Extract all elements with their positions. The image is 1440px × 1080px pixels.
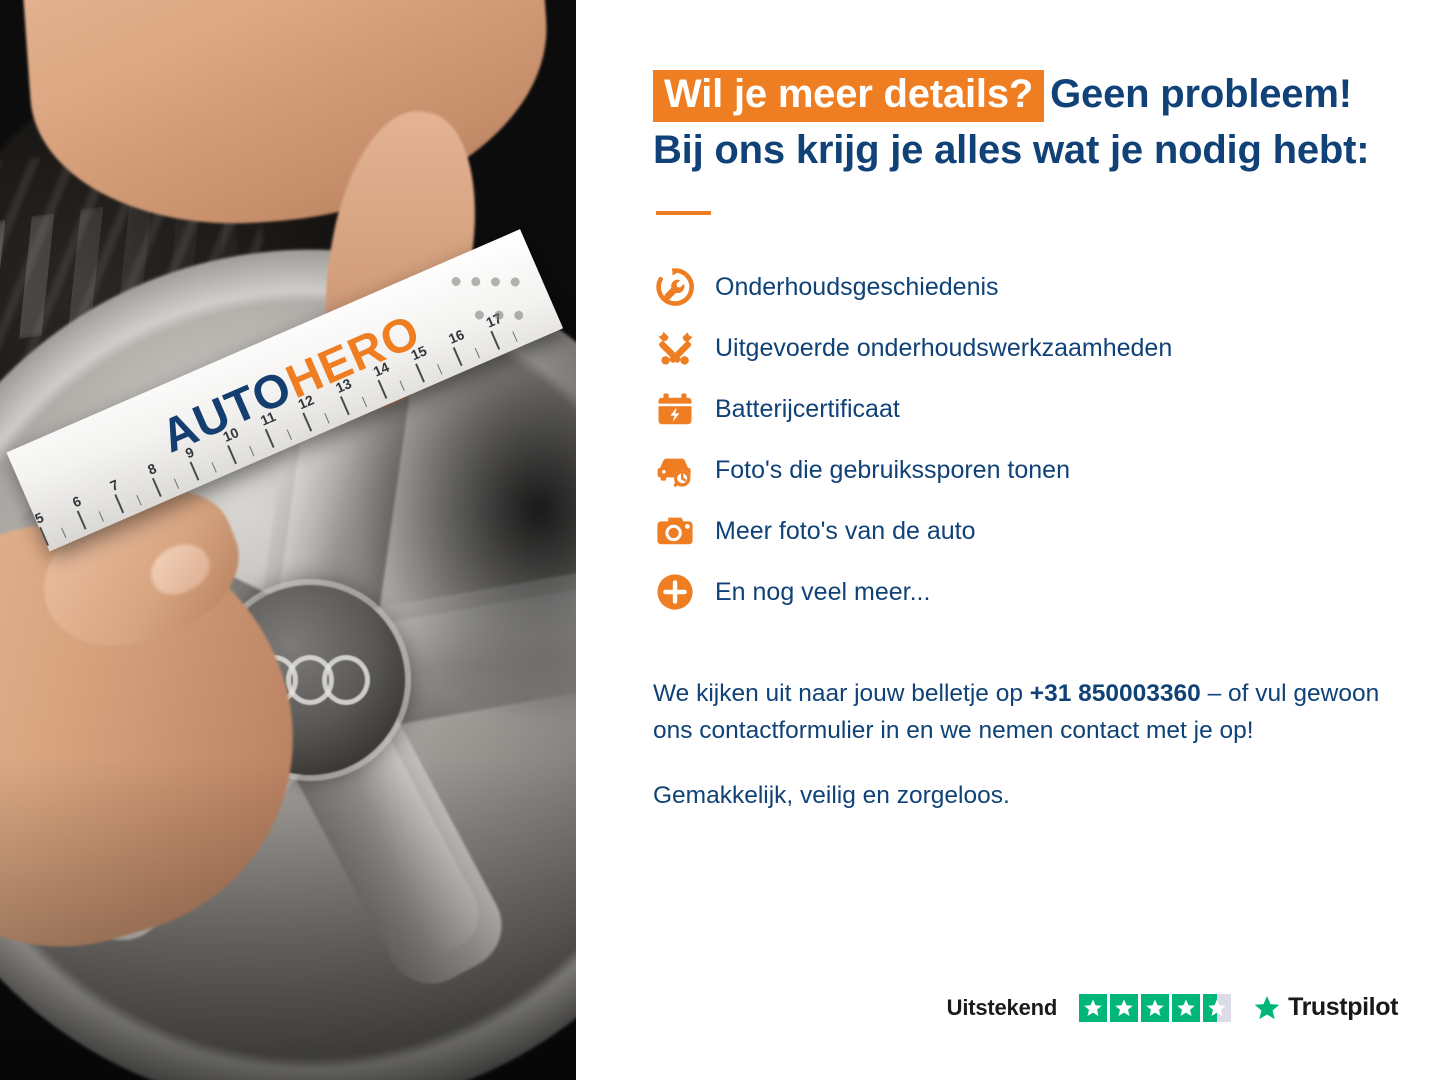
battery-icon (653, 387, 697, 431)
phone-number: +31 850003360 (1030, 680, 1201, 707)
maintenance-history-icon (653, 265, 697, 309)
star-filled (1172, 994, 1200, 1022)
star-filled (1079, 994, 1107, 1022)
trustpilot-rating[interactable]: Uitstekend (947, 993, 1398, 1022)
star-filled (1110, 994, 1138, 1022)
orange-divider (656, 211, 711, 215)
contact-text-before: We kijken uit naar jouw belletje op (653, 680, 1030, 707)
tools-icon (653, 326, 697, 370)
list-item: Batterijcertificaat (653, 379, 1398, 440)
contact-copy: We kijken uit naar jouw belletje op +31 … (653, 675, 1393, 815)
trustpilot-star-icon (1253, 994, 1281, 1022)
headline-rest: Geen probleem! (1050, 72, 1352, 116)
feature-label: Uitgevoerde onderhoudswerkzaamheden (715, 333, 1172, 363)
contact-paragraph: We kijken uit naar jouw belletje op +31 … (653, 675, 1393, 749)
photo-bottom-shadow (0, 760, 576, 1080)
list-item: Uitgevoerde onderhoudswerkzaamheden (653, 318, 1398, 379)
trustpilot-rating-word: Uitstekend (947, 995, 1057, 1021)
plus-icon (653, 570, 697, 614)
photo-stage: 5 6 7 8 9 10 11 12 13 14 15 16 17 AUTOHE… (0, 0, 576, 1080)
feature-label: Onderhoudsgeschiedenis (715, 272, 999, 302)
list-item: Onderhoudsgeschiedenis (653, 257, 1398, 318)
page-title: Wil je meer details?Geen probleem! Bij o… (653, 70, 1398, 173)
hero-photo: 5 6 7 8 9 10 11 12 13 14 15 16 17 AUTOHE… (0, 0, 576, 1080)
list-item: Foto's die gebruikssporen tonen (653, 440, 1398, 501)
feature-label: Foto's die gebruikssporen tonen (715, 455, 1070, 485)
feature-label: Batterijcertificaat (715, 394, 900, 424)
list-item: En nog veel meer... (653, 562, 1398, 623)
feature-label: En nog veel meer... (715, 577, 930, 607)
reassurance-paragraph: Gemakkelijk, veilig en zorgeloos. (653, 777, 1393, 814)
headline-badge: Wil je meer details? (653, 70, 1044, 122)
trustpilot-brand: Trustpilot (1253, 993, 1398, 1022)
star-filled (1141, 994, 1169, 1022)
trustpilot-stars (1079, 994, 1231, 1022)
feature-label: Meer foto's van de auto (715, 516, 976, 546)
content-panel: Wil je meer details?Geen probleem! Bij o… (576, 0, 1440, 1080)
content-inner: Wil je meer details?Geen probleem! Bij o… (653, 70, 1398, 814)
camera-icon (653, 509, 697, 553)
feature-list: Onderhoudsgeschiedenis (653, 257, 1398, 623)
list-item: Meer foto's van de auto (653, 501, 1398, 562)
car-inspection-icon (653, 448, 697, 492)
headline-line2: Bij ons krijg je alles wat je nodig hebt… (653, 128, 1398, 173)
star-half (1203, 994, 1231, 1022)
promo-page: 5 6 7 8 9 10 11 12 13 14 15 16 17 AUTOHE… (0, 0, 1440, 1080)
trustpilot-wordmark: Trustpilot (1288, 993, 1398, 1022)
